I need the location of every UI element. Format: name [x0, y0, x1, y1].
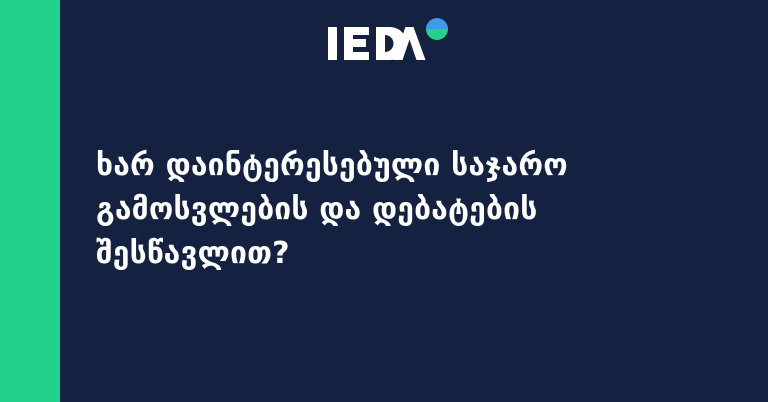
logo-wordmark-ieda — [328, 18, 452, 64]
headline-line-3: შესწავლით? — [96, 232, 696, 276]
promo-card: ხარ დაინტერესებული საჯარო გამოსვლების და… — [0, 0, 768, 402]
ieda-logo[interactable] — [328, 18, 452, 62]
headline-line-2: გამოსვლების და დებატების — [96, 188, 696, 232]
left-accent-stripe — [0, 0, 60, 402]
headline-question: ხარ დაინტერესებული საჯარო გამოსვლების და… — [96, 144, 696, 276]
headline-line-1: ხარ დაინტერესებული საჯარო — [96, 144, 696, 188]
logo-dot-icon — [426, 18, 448, 40]
